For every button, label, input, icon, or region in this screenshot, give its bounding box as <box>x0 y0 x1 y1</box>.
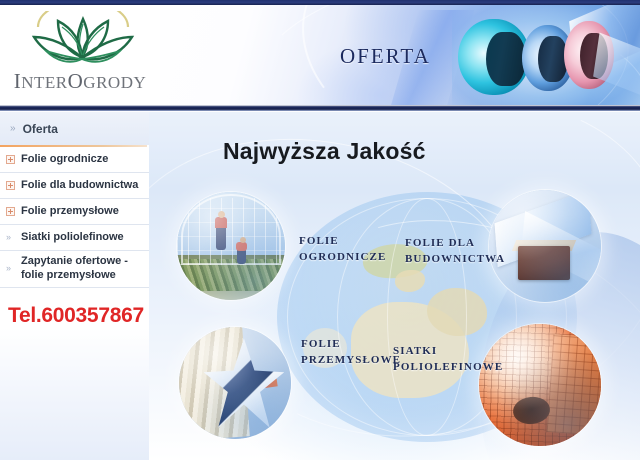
site-logo[interactable]: INTEROGRODY <box>0 5 160 105</box>
sidebar-item-label: Folie dla budownictwa <box>21 179 138 193</box>
product-tile-label-line2: BUDOWNICTWA <box>405 252 505 268</box>
film-rolls-graphic <box>452 5 640 105</box>
sidebar-item-folie-ogrodnicze[interactable]: Folie ogrodnicze <box>0 147 149 173</box>
sidebar-item-folie-przemyslowe[interactable]: Folie przemysłowe <box>0 199 149 225</box>
header-bottom-border <box>0 105 640 111</box>
polyolefin-mesh-photo[interactable] <box>479 324 601 446</box>
sidebar-item-label: Siatki poliolefinowe <box>21 231 124 245</box>
header-top-border <box>0 0 640 5</box>
expand-plus-icon[interactable] <box>6 207 15 216</box>
product-tile-label-line1: SIATKI <box>393 344 503 360</box>
chevron-right-icon: » <box>10 123 16 134</box>
logo-wordmark-nter: NTER <box>21 73 67 92</box>
worker-figure <box>215 217 227 228</box>
mesh-shading <box>479 324 601 446</box>
product-tile-label-line1: FOLIE <box>301 337 401 353</box>
product-tile-label: FOLIE OGRODNICZE <box>299 234 386 266</box>
construction-package <box>518 246 570 280</box>
product-tile-label: SIATKI POLIOLEFINOWE <box>393 344 503 376</box>
product-tile-label-line2: POLIOLEFINOWE <box>393 360 503 376</box>
sidebar-item-siatki-poliolefinowe[interactable]: » Siatki poliolefinowe <box>0 225 149 251</box>
chevron-right-icon: » <box>6 264 15 273</box>
page-root: OFERTA INTEROGRODY <box>0 0 640 460</box>
sidebar-item-zapytanie-ofertowe[interactable]: » Zapytanie ofertowe - folie przemysłowe <box>0 251 149 288</box>
industrial-film-photo[interactable] <box>179 327 291 439</box>
product-tile-label-line2: OGRODNICZE <box>299 250 386 266</box>
sidebar-item-label: Folie przemysłowe <box>21 205 119 219</box>
worker-figure <box>216 224 226 250</box>
sidebar-nav: » Oferta Folie ogrodnicze Folie dla budo… <box>0 112 149 460</box>
product-tile-label-line2: PRZEMYSŁOWE <box>301 353 401 369</box>
site-header: OFERTA INTEROGRODY <box>0 0 640 112</box>
expand-plus-icon[interactable] <box>6 155 15 164</box>
lotus-leaf-logo-icon <box>20 11 146 73</box>
page-headline: Najwyższa Jakość <box>223 138 426 165</box>
main-content: Najwyższa Jakość FOLIE OGRODNICZE <box>149 112 640 460</box>
contact-phone[interactable]: Tel.600357867 <box>8 304 144 328</box>
logo-wordmark: INTEROGRODY <box>4 69 156 94</box>
greenhouse-photo[interactable] <box>177 192 285 300</box>
sidebar-item-oferta[interactable]: » Oferta <box>0 112 149 145</box>
header-section-title: OFERTA <box>340 44 431 69</box>
product-tile-label-line1: FOLIE <box>299 234 386 250</box>
sidebar-item-folie-dla-budownictwa[interactable]: Folie dla budownictwa <box>0 173 149 199</box>
worker-figure <box>240 237 246 243</box>
globe-meridian <box>387 198 467 436</box>
expand-plus-icon[interactable] <box>6 181 15 190</box>
worker-figure <box>236 242 247 251</box>
logo-wordmark-o: O <box>68 69 84 93</box>
sidebar-item-label: Folie ogrodnicze <box>21 153 108 167</box>
sidebar-item-label: Zapytanie ofertowe - folie przemysłowe <box>21 255 143 283</box>
logo-wordmark-grody: GRODY <box>83 73 146 92</box>
product-tile-label-line1: FOLIE DLA <box>405 236 505 252</box>
film-roll-teal-core <box>486 32 526 86</box>
product-tile-label: FOLIE DLA BUDOWNICTWA <box>405 236 505 268</box>
construction-film-photo[interactable] <box>489 190 601 302</box>
product-tile-label: FOLIE PRZEMYSŁOWE <box>301 337 401 369</box>
sidebar-item-label: Oferta <box>23 122 58 136</box>
chevron-right-icon: » <box>6 233 15 242</box>
